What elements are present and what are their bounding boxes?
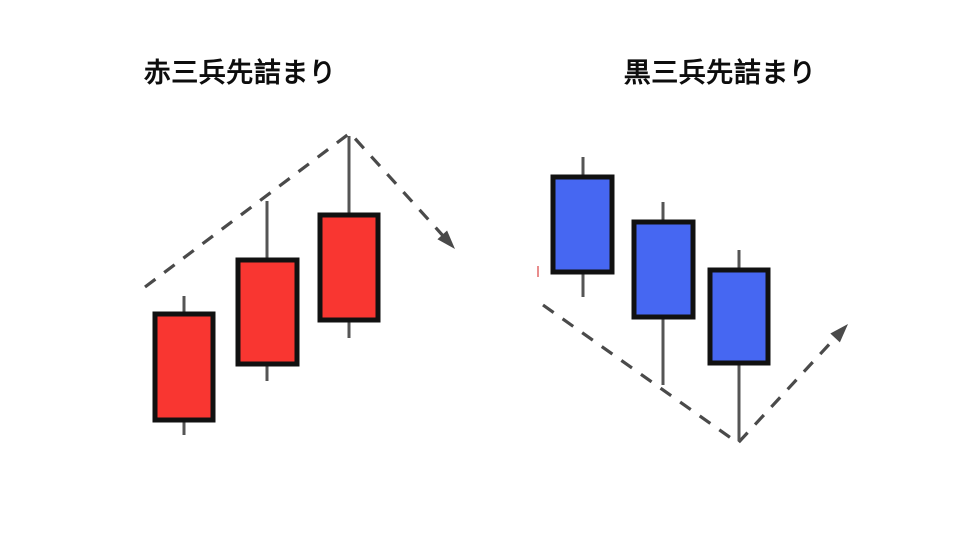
candle-bullish-2 xyxy=(238,201,297,381)
candle-bullish-3 xyxy=(320,136,378,338)
candle-bearish-1 xyxy=(553,157,612,297)
candle-bearish-2 xyxy=(634,202,693,385)
candle-bearish-3 xyxy=(710,250,768,441)
panel-bullish-three-soldiers: 赤三兵先詰まり xyxy=(0,0,480,540)
candlestick-chart-bearish xyxy=(480,0,960,540)
trend-line-bullish xyxy=(145,133,455,287)
panel-bearish-three-crows: 黒三兵先詰まり xyxy=(480,0,960,540)
candle-bullish-1 xyxy=(155,296,213,435)
candlestick-chart-bullish xyxy=(0,0,480,540)
trend-line-bearish xyxy=(543,305,848,443)
diagram-canvas: 赤三兵先詰まり 黒三兵先詰 xyxy=(0,0,960,540)
